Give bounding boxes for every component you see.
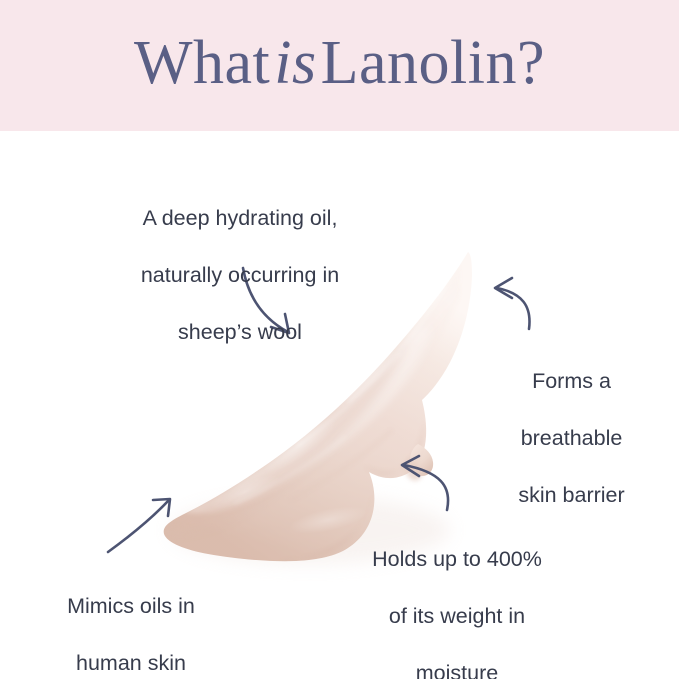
callout-line: Forms a [484, 367, 659, 396]
callout-line: sheep’s wool [100, 318, 380, 347]
callout-line: naturally occurring in [100, 261, 380, 290]
page-title: What is Lanolin? [0, 0, 679, 131]
page-title-emphasis: is [270, 32, 320, 94]
callout-line: of its weight in [332, 602, 582, 631]
lanolin-infographic: What is Lanolin? [0, 0, 679, 679]
callout-deep-hydrating-oil: A deep hydrating oil, naturally occurrin… [100, 175, 380, 375]
callout-mimics-human-skin: Mimics oils in human skin [26, 563, 236, 679]
callout-breathable-skin-barrier: Forms a breathable skin barrier [484, 338, 659, 538]
callout-line: Holds up to 400% [332, 545, 582, 574]
callout-line: breathable [484, 424, 659, 453]
page-title-part-1: What [134, 32, 270, 94]
callout-line: human skin [26, 649, 236, 678]
page-title-part-2: Lanolin? [321, 32, 545, 94]
callout-holds-moisture: Holds up to 400% of its weight in moistu… [332, 516, 582, 679]
callout-line: Mimics oils in [26, 592, 236, 621]
callout-line: moisture [332, 659, 582, 679]
callout-line: skin barrier [484, 481, 659, 510]
callout-line: A deep hydrating oil, [100, 204, 380, 233]
